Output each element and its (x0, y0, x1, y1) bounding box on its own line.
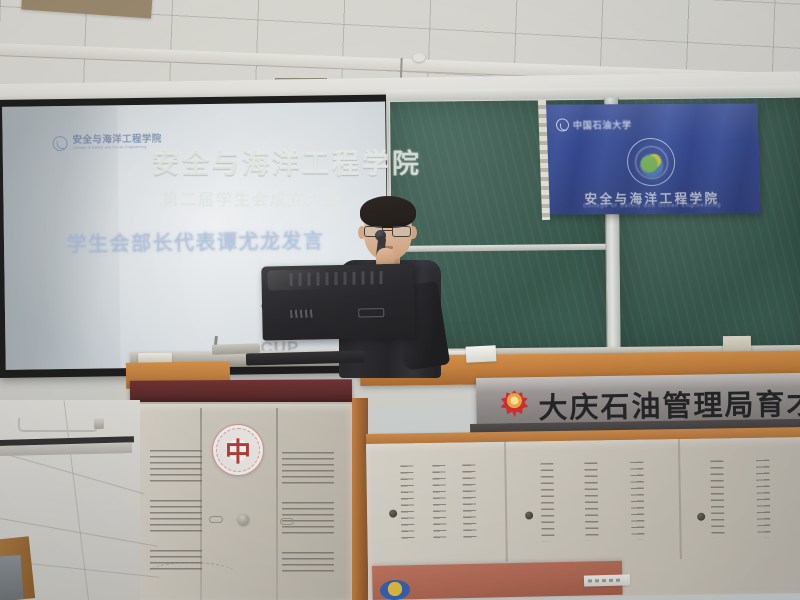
petrochina-logo-icon (500, 390, 528, 417)
lectern-vent (282, 552, 334, 576)
monitor-highlight (267, 269, 327, 290)
petrochina-logo-petals (500, 390, 528, 417)
slide-logo: 安全与海洋工程学院 College of Safety and Ocean En… (53, 135, 162, 152)
flag-emblem-inner-icon (634, 145, 668, 178)
cabinet-vent (432, 465, 446, 543)
cabinet-seam (504, 442, 508, 562)
cabinet-knob[interactable] (525, 511, 533, 519)
wall-hook-knob (94, 418, 104, 429)
university-logo-icon (556, 118, 569, 131)
paper-sheet (466, 345, 497, 363)
eyeglass-lens-right (392, 226, 411, 237)
photo-scene: 安全与海洋工程学院 College of Safety and Ocean En… (0, 0, 800, 600)
cabinet-vent (540, 463, 554, 541)
ceiling-sensor-icon (413, 53, 425, 62)
lectern-top-surface (130, 379, 352, 405)
flag-emblem-icon (626, 138, 675, 186)
cabinet-vent (630, 462, 644, 540)
chair-seat (0, 555, 23, 600)
lectern-cabinet: 中 (134, 402, 352, 600)
cabinet-vent (710, 460, 724, 538)
lectern-emblem-glyph: 中 (225, 432, 251, 469)
college-flag: 中国石油大学 安全与海洋工程学院 College of Safety and O… (541, 103, 760, 214)
monitor-port-panel (358, 308, 384, 318)
cabinet-vent (462, 464, 476, 542)
flag-university-header: 中国石油大学 (556, 118, 632, 131)
lectern-vent (282, 452, 334, 486)
cabinet-vent (756, 460, 770, 538)
cabinet-knob[interactable] (697, 513, 705, 521)
lectern-emblem-icon: 中 (212, 424, 264, 476)
flag-college-en: College of Safety and Ocean Engineering (544, 202, 760, 209)
lectern-lock-knob[interactable] (238, 514, 249, 525)
computer-monitor[interactable] (261, 263, 415, 340)
speaker-eyeglasses (363, 226, 413, 237)
flag-college-cn: 安全与海洋工程学院 (544, 187, 761, 207)
cabinet-vent (584, 462, 598, 540)
speaker-hair (360, 196, 416, 228)
slide-logo-cn: 安全与海洋工程学院 (73, 135, 162, 146)
slide-logo-mark-icon (53, 136, 68, 151)
flag-university-name: 中国石油大学 (573, 118, 632, 131)
chalk-text-line1: 安全与海洋工程学院 (152, 142, 422, 181)
cabinet-knob[interactable] (389, 510, 397, 518)
cabinet-seam (678, 439, 682, 559)
chalk-text-line2: 第二届学生会成立大会 (162, 186, 342, 210)
lectern-door-handle[interactable] (280, 518, 294, 525)
lectern-vent (150, 500, 202, 534)
cabinet-vent (400, 465, 414, 543)
table-label (584, 574, 630, 586)
lectern-seam (276, 408, 278, 600)
lectern-base-arc (146, 562, 236, 586)
wall-hook (18, 418, 98, 432)
monitor-label (290, 310, 314, 319)
slide-logo-text: 安全与海洋工程学院 College of Safety and Ocean En… (73, 135, 162, 151)
cabinet-wood-edge (352, 398, 368, 600)
lectern-vent (150, 450, 202, 484)
lectern-door-handle[interactable] (209, 516, 223, 523)
